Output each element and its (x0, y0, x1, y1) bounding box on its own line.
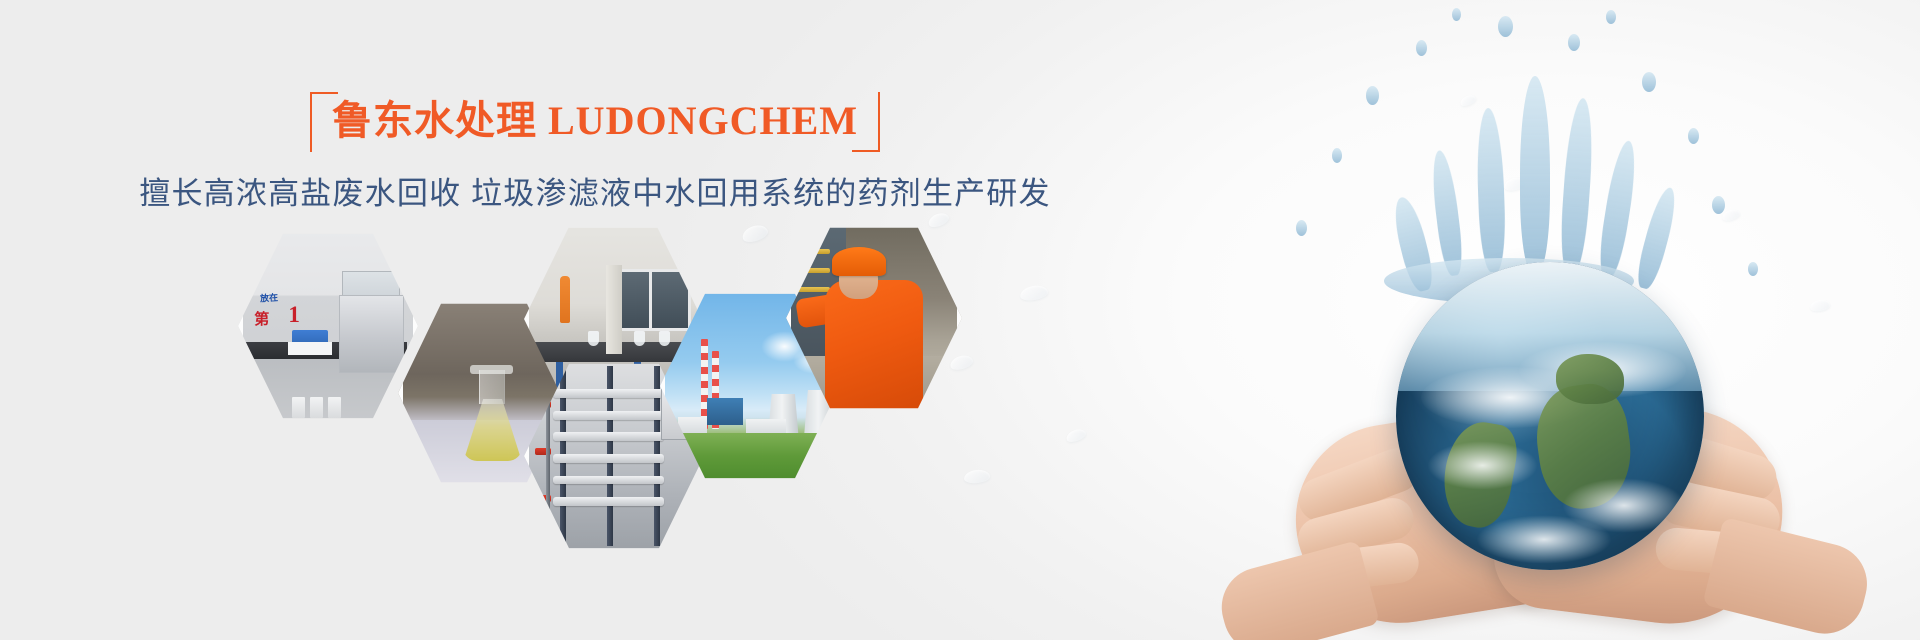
membrane-vessel (553, 497, 665, 506)
water-droplet-icon (1332, 148, 1342, 163)
water-droplet-icon (1296, 220, 1307, 236)
hard-hat-icon (832, 247, 887, 276)
hexagon-photo-cluster: 放在 第 1 (0, 0, 1050, 640)
membrane-vessel (553, 476, 665, 485)
chemical-jug (310, 397, 323, 419)
chemical-jug (328, 397, 341, 419)
landmass-europe (1556, 354, 1624, 403)
worker-body (825, 280, 924, 414)
wall-slogan-top: 放在 (259, 290, 278, 304)
water-droplet-icon (1748, 262, 1758, 276)
yellow-pipe (791, 268, 830, 273)
glassware-flask (634, 331, 645, 347)
water-globe-scene (1100, 0, 1920, 640)
lab-cabinet (339, 295, 404, 373)
white-instrument (288, 342, 331, 356)
flask-neck (479, 370, 505, 404)
water-droplet-icon (1366, 86, 1379, 105)
water-droplet-icon (1065, 427, 1088, 444)
earth-water-globe (1396, 262, 1704, 570)
water-droplet-icon (1498, 16, 1513, 37)
globe-cloud (1427, 441, 1538, 490)
water-droplet-icon (1568, 34, 1580, 51)
glassware-flask (659, 331, 670, 347)
wall-slogan-main: 第 (254, 308, 268, 329)
orange-stand (560, 276, 571, 323)
window-divider (649, 269, 652, 331)
glassware-flask (588, 331, 599, 347)
membrane-vessel (553, 454, 665, 463)
hexagon-photo-lab-slogan[interactable]: 放在 第 1 (238, 228, 418, 424)
membrane-vessel (553, 432, 665, 441)
hero-banner: 鲁东水处理 LUDONGCHEM 擅长高浓高盐废水回收 垃圾渗滤液中水回用系统的… (0, 0, 1920, 640)
water-droplet-icon (1688, 128, 1699, 144)
yellow-pipe (791, 249, 830, 254)
plant-building-blue (707, 398, 743, 425)
membrane-vessel (553, 411, 665, 420)
distillation-column (606, 265, 622, 354)
wall-slogan-number: 1 (288, 302, 300, 328)
water-droplet-icon (1642, 72, 1656, 92)
yellow-pipe (791, 287, 830, 292)
flask-lip (470, 365, 513, 375)
water-droplet-icon (1712, 196, 1725, 214)
lab-slogan-scene: 放在 第 1 (238, 228, 418, 424)
water-droplet-icon (1416, 40, 1427, 56)
water-droplet-icon (1606, 10, 1616, 24)
chemical-jug (292, 397, 305, 419)
membrane-vessel (553, 389, 665, 398)
globe-cloud (1476, 515, 1612, 564)
water-droplet-icon (1452, 8, 1461, 21)
